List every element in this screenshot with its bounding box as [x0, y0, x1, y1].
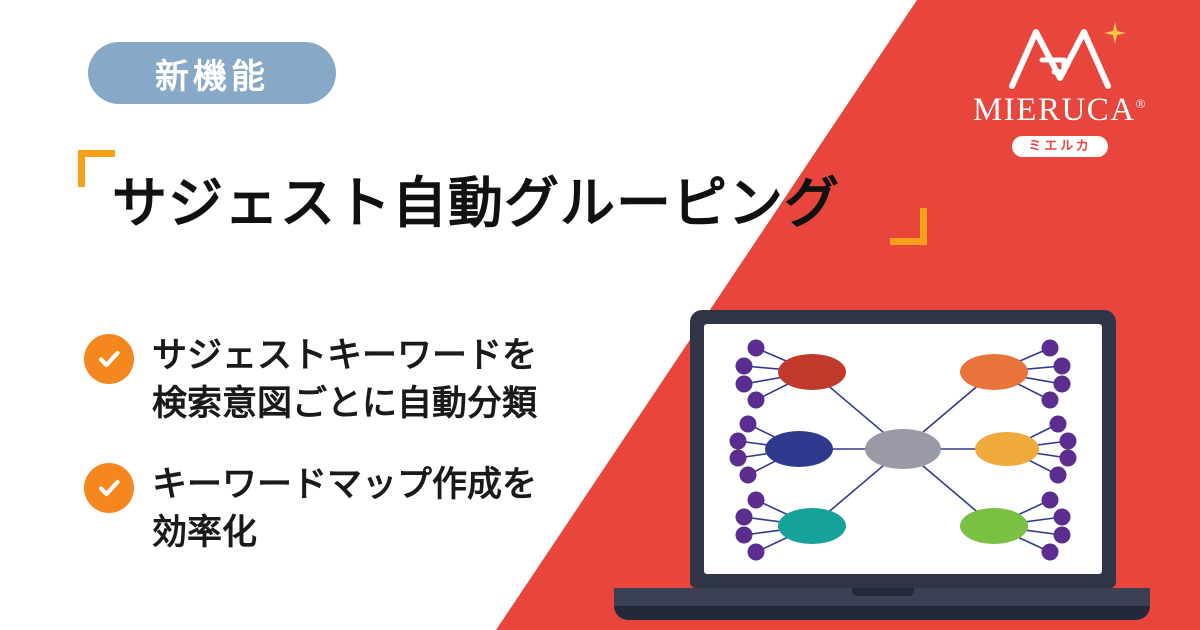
registered-mark: ®: [1136, 96, 1147, 111]
feature-text-line2: 効率化: [152, 509, 537, 557]
laptop-base-lip: [614, 606, 1150, 620]
mieruca-cat-logo-icon: [1006, 16, 1114, 90]
bracket-top-left-icon: [78, 150, 115, 187]
sparkle-icon: [1104, 22, 1126, 44]
keyword-map-diagram: [704, 324, 1102, 574]
logo-wordmark: MIERUCA®: [960, 94, 1160, 127]
cluster-nodes: [765, 354, 1039, 544]
laptop-notch: [852, 588, 914, 596]
logo-wordmark-text: MIERUCA: [973, 92, 1136, 128]
feature-text-line1: サジェストキーワードを: [152, 332, 537, 380]
feature-list: サジェストキーワードを 検索意図ごとに自動分類 キーワードマップ作成を 効率化: [84, 332, 664, 590]
bracket-bottom-right-icon: [890, 208, 927, 245]
mieruca-logo: MIERUCA® ミエルカ: [960, 16, 1160, 157]
promo-banner: MIERUCA® ミエルカ 新機能 サジェスト自動グルーピング サジェストキーワ…: [0, 0, 1200, 630]
title-block: サジェスト自動グルーピング: [78, 150, 918, 260]
list-item: サジェストキーワードを 検索意図ごとに自動分類: [84, 332, 664, 427]
page-title: サジェスト自動グルーピング: [112, 158, 840, 238]
feature-text-line1: キーワードマップ作成を: [152, 461, 537, 509]
check-icon: [84, 334, 134, 384]
logo-subtitle: ミエルカ: [1012, 136, 1108, 157]
check-icon: [84, 463, 134, 513]
new-feature-badge-label: 新機能: [155, 49, 269, 98]
new-feature-badge: 新機能: [88, 42, 336, 104]
feature-text: サジェストキーワードを 検索意図ごとに自動分類: [152, 332, 537, 427]
laptop-screen: [704, 324, 1102, 574]
feature-text: キーワードマップ作成を 効率化: [152, 461, 537, 556]
feature-text-line2: 検索意図ごとに自動分類: [152, 380, 537, 428]
list-item: キーワードマップ作成を 効率化: [84, 461, 664, 556]
laptop-illustration: [614, 310, 1150, 630]
